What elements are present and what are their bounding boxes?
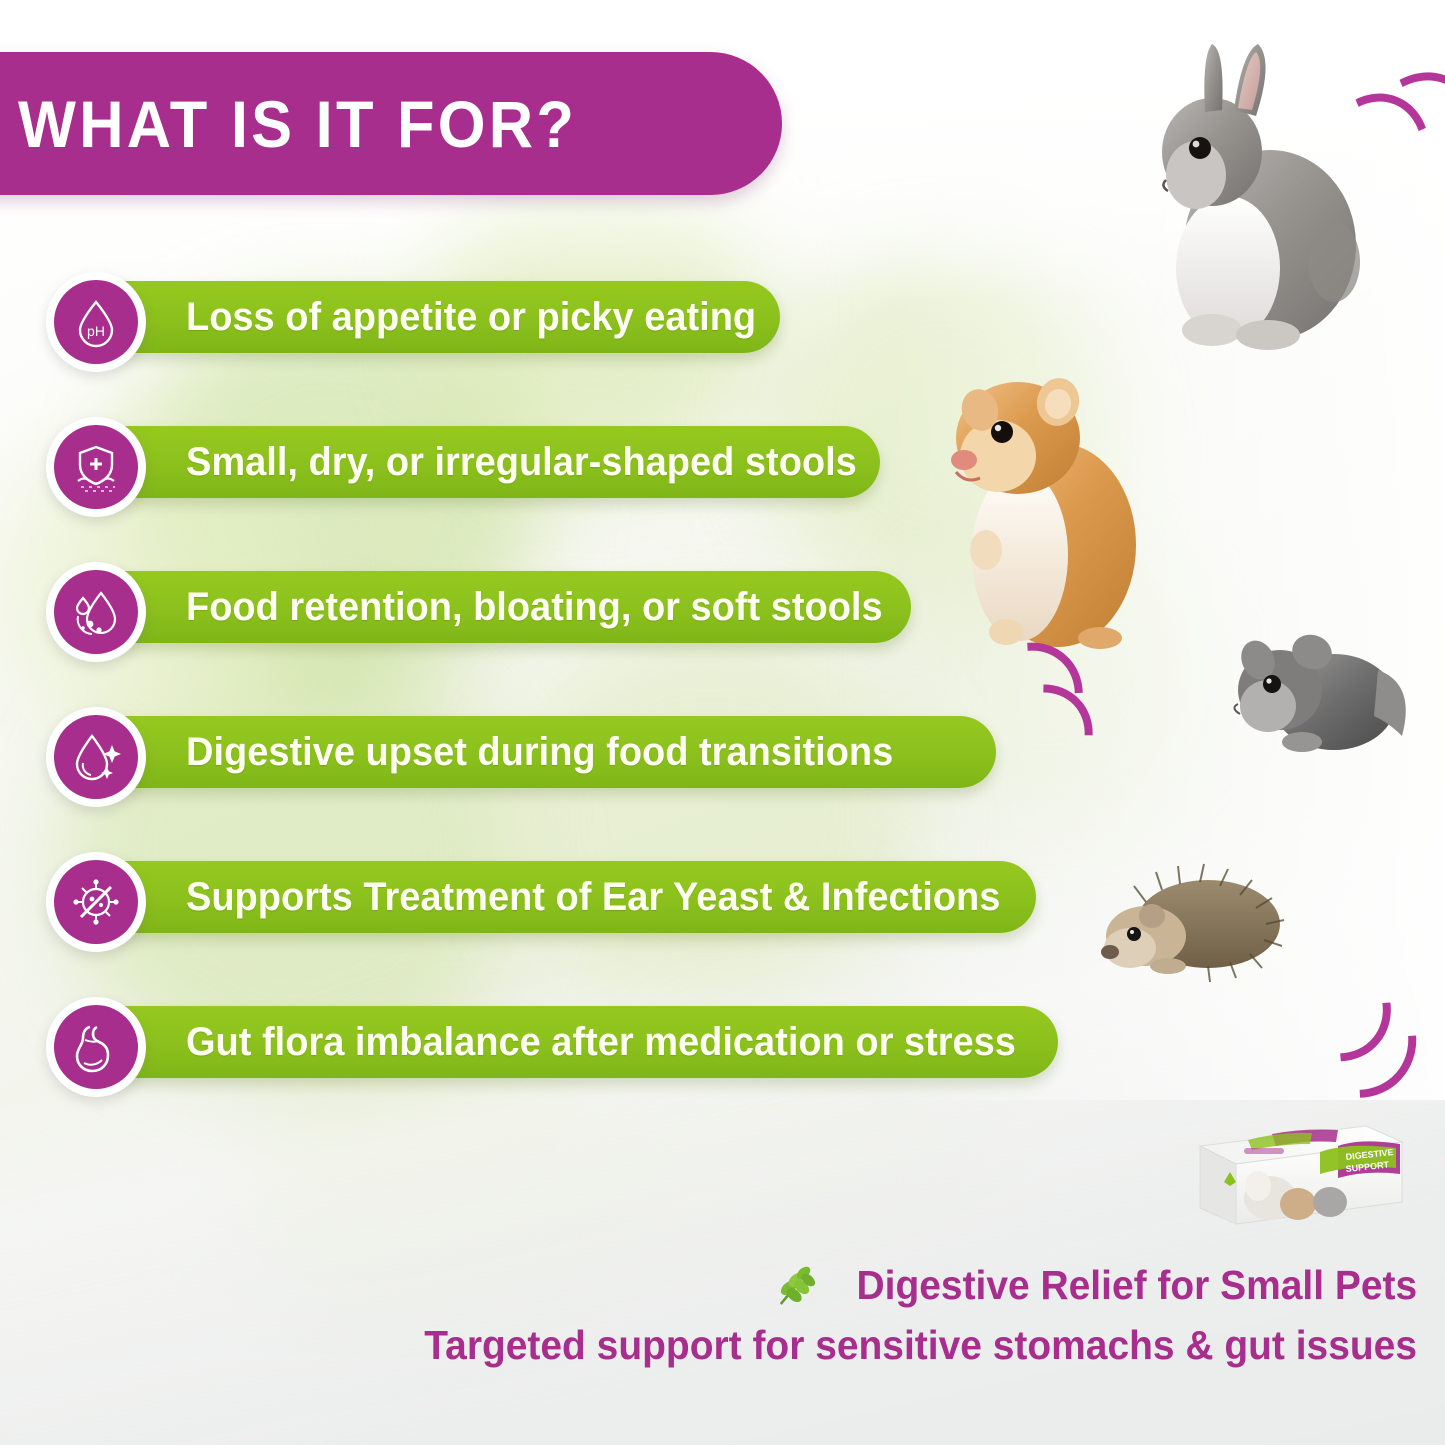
feature-label: Food retention, bloating, or soft stools <box>186 587 883 627</box>
feature-badge <box>46 852 146 952</box>
no-germ-icon <box>54 860 138 944</box>
feature-label: Small, dry, or irregular-shaped stools <box>186 442 857 482</box>
feature-pill[interactable]: Small, dry, or irregular-shaped stools <box>96 426 880 498</box>
tagline-secondary: Targeted support for sensitive stomachs … <box>424 1322 1417 1369</box>
feature-label: Supports Treatment of Ear Yeast & Infect… <box>186 877 1000 917</box>
feature-row: Food retention, bloating, or soft stools <box>0 562 1445 660</box>
feature-label: Gut flora imbalance after medication or … <box>186 1022 1016 1062</box>
bloating-droplet-icon <box>54 570 138 654</box>
tagline-primary-row: Digestive Relief for Small Pets <box>771 1262 1417 1309</box>
feature-pill[interactable]: Gut flora imbalance after medication or … <box>96 1006 1058 1078</box>
page-title: WHAT IS IT FOR? <box>18 91 577 157</box>
feature-row: Supports Treatment of Ear Yeast & Infect… <box>0 852 1445 950</box>
feature-badge: pH <box>46 272 146 372</box>
feature-label: Loss of appetite or picky eating <box>186 297 756 337</box>
sparkle-droplet-icon <box>54 715 138 799</box>
feature-badge <box>46 997 146 1097</box>
tagline-primary: Digestive Relief for Small Pets <box>856 1262 1417 1309</box>
feature-badge <box>46 417 146 517</box>
feature-list: Loss of appetite or picky eating pH Smal… <box>0 272 1445 1142</box>
feature-row: Gut flora imbalance after medication or … <box>0 997 1445 1095</box>
feature-pill[interactable]: Supports Treatment of Ear Yeast & Infect… <box>96 861 1036 933</box>
feature-row: Loss of appetite or picky eating pH <box>0 272 1445 370</box>
infographic-canvas: DIGESTIVE SUPPORT WHAT IS IT FOR? Loss o… <box>0 0 1445 1445</box>
shield-plus-icon <box>54 425 138 509</box>
feature-label: Digestive upset during food transitions <box>186 732 893 772</box>
feature-row: Small, dry, or irregular-shaped stools <box>0 417 1445 515</box>
feature-badge <box>46 707 146 807</box>
feature-badge <box>46 562 146 662</box>
feature-pill[interactable]: Loss of appetite or picky eating <box>96 281 780 353</box>
stomach-icon <box>54 1005 138 1089</box>
leaf-sprig-icon <box>773 1264 815 1308</box>
header-banner: WHAT IS IT FOR? <box>0 52 782 195</box>
feature-pill[interactable]: Food retention, bloating, or soft stools <box>96 571 911 643</box>
ph-droplet-icon: pH <box>54 280 138 364</box>
feature-pill[interactable]: Digestive upset during food transitions <box>96 716 996 788</box>
svg-text:pH: pH <box>87 323 105 339</box>
feature-row: Digestive upset during food transitions <box>0 707 1445 805</box>
